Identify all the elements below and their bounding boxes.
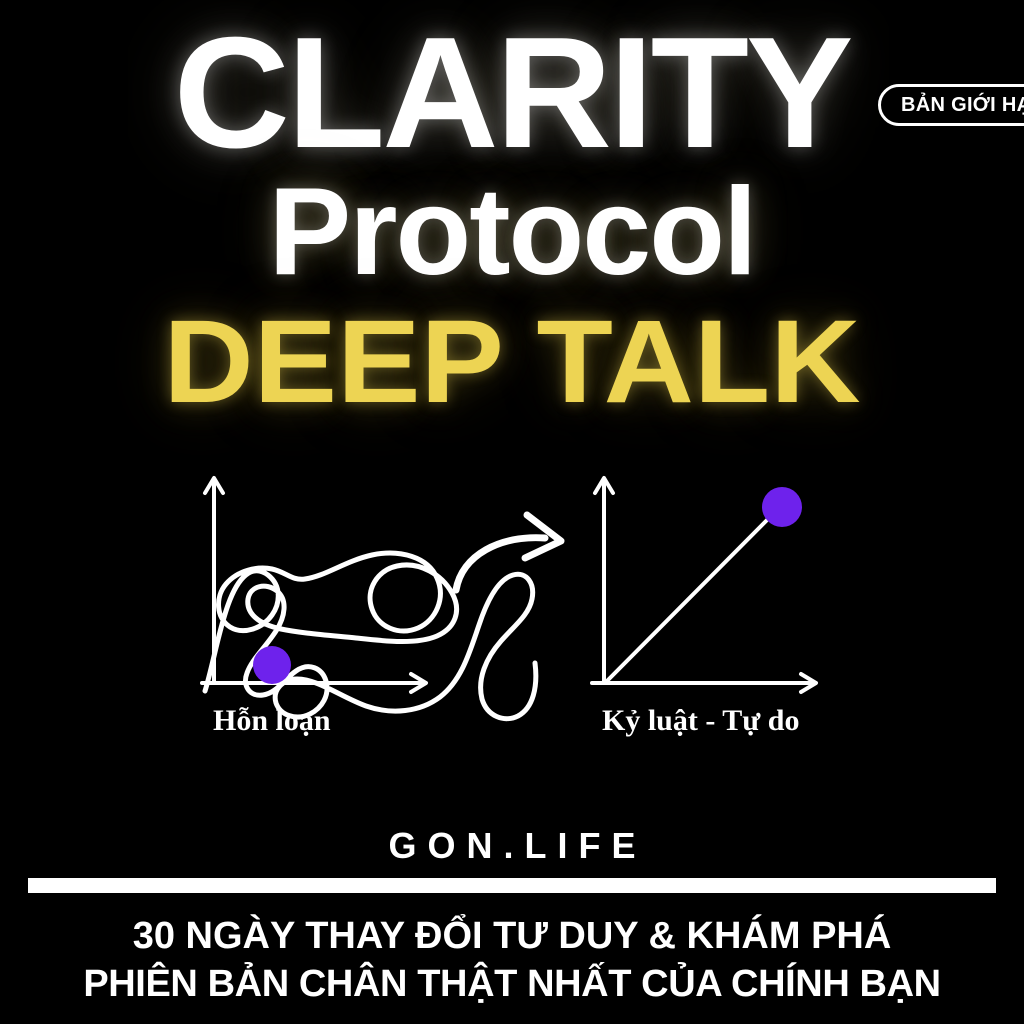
status-badge: BẢN GIỚI HẠN	[878, 84, 1024, 126]
status-badge-label: BẢN GIỚI HẠN	[901, 95, 1024, 115]
diagram-svg	[0, 465, 1024, 750]
growth-line-path	[606, 516, 771, 682]
brand-name: GON.LIFE	[0, 826, 1024, 866]
poster-canvas: CLARITY Protocol DEEP TALK BẢN GIỚI HẠN	[0, 0, 1024, 1024]
tagline-line-2: PHIÊN BẢN CHÂN THẬT NHẤT CỦA CHÍNH BẠN	[0, 960, 1024, 1008]
page-subtitle: Protocol	[0, 170, 1024, 294]
right-chart-marker-dot	[762, 487, 802, 527]
tagline-line-1: 30 NGÀY THAY ĐỔI TƯ DUY & KHÁM PHÁ	[0, 912, 1024, 960]
chaos-scribble-path	[205, 553, 536, 719]
left-chart-marker-dot	[253, 646, 291, 684]
page-title: CLARITY	[0, 14, 1024, 172]
divider	[28, 878, 996, 893]
left-chart-group	[202, 478, 536, 719]
left-chart-caption: Hỗn loạn	[213, 706, 331, 736]
tagline-block: 30 NGÀY THAY ĐỔI TƯ DUY & KHÁM PHÁ PHIÊN…	[0, 912, 1024, 1008]
right-chart-caption: Kỷ luật - Tự do	[602, 706, 800, 736]
page-accent-title: DEEP TALK	[0, 303, 1024, 421]
right-chart-group	[592, 478, 816, 692]
transformation-diagram	[0, 465, 1024, 750]
